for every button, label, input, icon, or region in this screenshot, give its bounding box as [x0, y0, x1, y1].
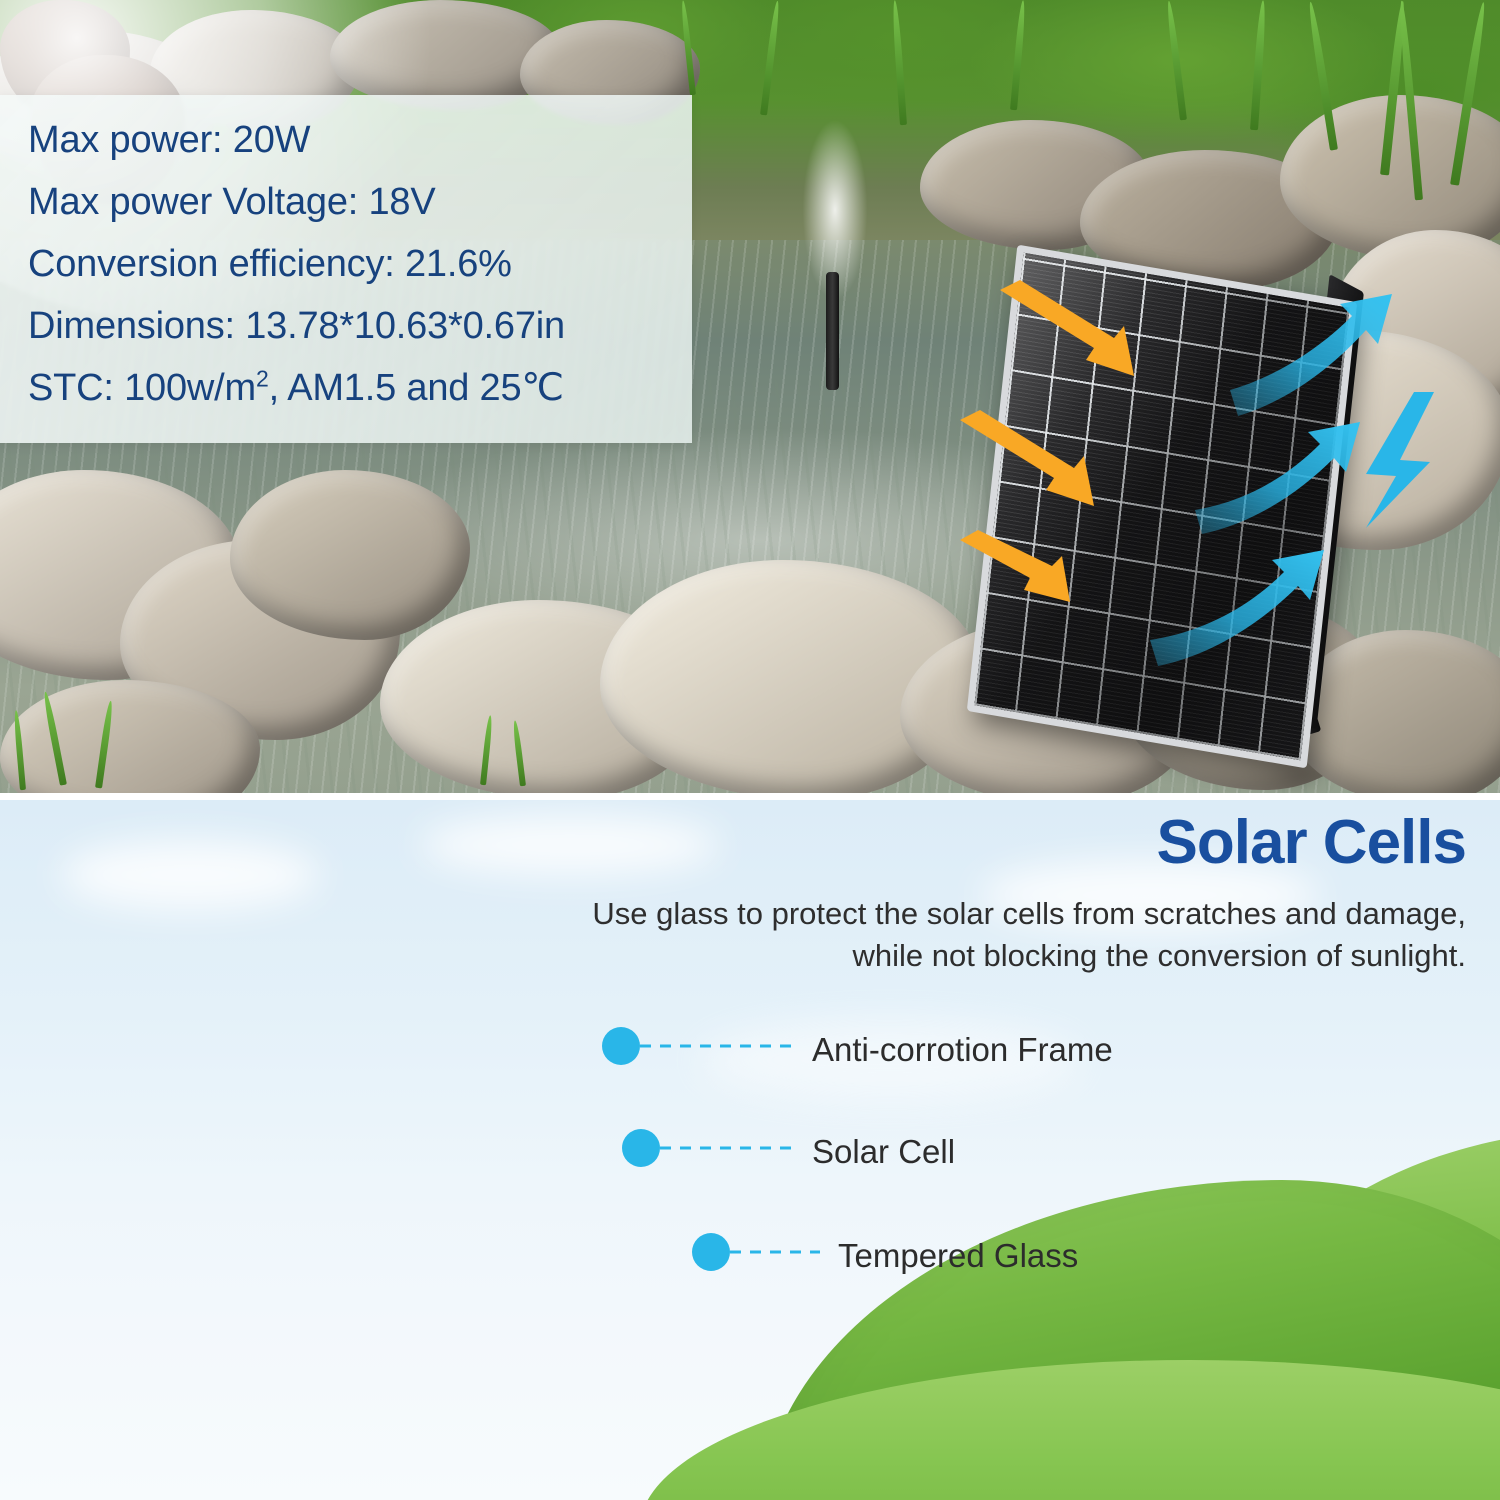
spec-stc-suffix: , AM1.5 and 25℃ — [269, 367, 564, 409]
callout-dot-frame[interactable] — [602, 1027, 640, 1065]
product-infographic: Solar Cells Use glass to protect the sol… — [0, 0, 1500, 1500]
spec-max-power: Max power: 20W — [28, 109, 688, 171]
callout-dot-cell[interactable] — [622, 1129, 660, 1167]
energy-arrow — [1195, 422, 1360, 534]
callout-label-cell: Solar Cell — [812, 1135, 955, 1168]
specifications-panel: Max power: 20W Max power Voltage: 18V Co… — [0, 95, 692, 443]
callout-label-glass: Tempered Glass — [838, 1239, 1078, 1272]
spec-dimensions: Dimensions: 13.78*10.63*0.67in — [28, 295, 688, 357]
callout-label-frame: Anti-corrotion Frame — [812, 1033, 1113, 1066]
specifications-list: Max power: 20W Max power Voltage: 18V Co… — [28, 109, 688, 419]
callout-leader-lines — [0, 800, 1500, 1500]
energy-arrow — [1230, 294, 1392, 416]
sunlight-arrow — [1000, 280, 1134, 376]
callout-dot-glass[interactable] — [692, 1233, 730, 1271]
spec-stc: STC: 100w/m2, AM1.5 and 25℃ — [28, 357, 688, 419]
sunlight-arrow — [960, 530, 1070, 602]
spec-stc-prefix: STC: 100w/m — [28, 367, 256, 409]
spec-max-power-voltage: Max power Voltage: 18V — [28, 171, 688, 233]
sunlight-arrow-group — [960, 280, 1134, 602]
sunlight-arrow — [960, 410, 1094, 506]
spec-stc-exponent: 2 — [256, 365, 269, 391]
power-bolt-icon — [1366, 392, 1434, 528]
energy-arrow-group — [1150, 294, 1434, 666]
energy-arrow — [1150, 550, 1324, 666]
spec-conversion-efficiency: Conversion efficiency: 21.6% — [28, 233, 688, 295]
